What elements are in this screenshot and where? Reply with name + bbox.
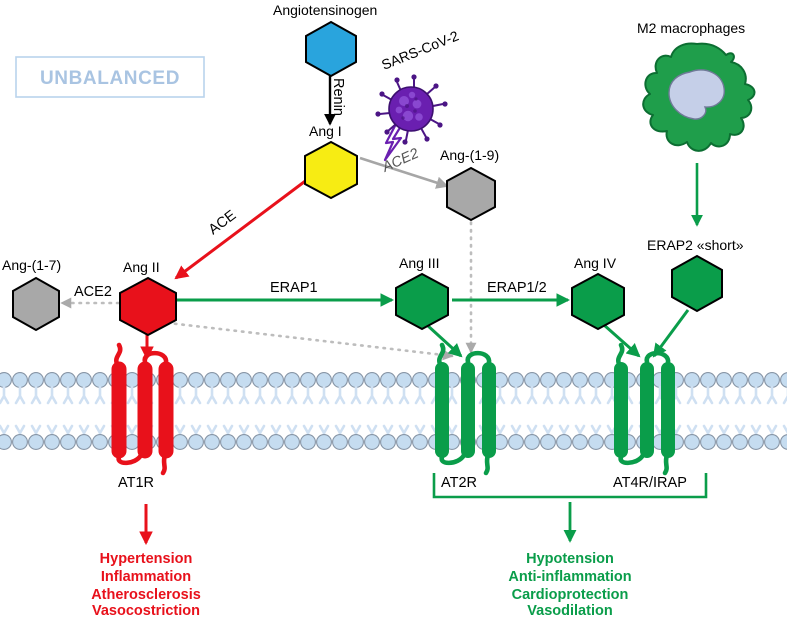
arrow-renin: Renin [330, 72, 346, 124]
receptor-label-at1r: AT1R [118, 475, 154, 491]
outcome-list-left: Hypertension Inflammation Atherosclerosi… [91, 551, 201, 618]
arrow-ang2-to-at2r-dotted [160, 322, 452, 356]
node-label-ang-ii: Ang II [123, 259, 160, 275]
outcome-left-2: Atherosclerosis [91, 587, 201, 603]
receptor-at2r[interactable]: AT2R [435, 345, 496, 491]
arrow-ace: ACE [176, 176, 312, 278]
outcome-left-3: Vasocostriction [92, 603, 200, 618]
outcome-right-2: Cardioprotection [512, 587, 629, 603]
outcome-left-0: Hypertension [100, 551, 193, 567]
receptor-label-at4r-irap: AT4R/IRAP [613, 475, 687, 491]
node-angiotensinogen[interactable]: Angiotensinogen [273, 2, 377, 76]
node-label-sars-cov-2: SARS-CoV-2 [379, 27, 461, 73]
pathway-scene: Renin ACE ACE2 ACE2 ERAP1 ERAP1/2 [0, 0, 787, 618]
receptor-at1r[interactable]: AT1R [112, 345, 173, 491]
node-ang-iii[interactable]: Ang III [396, 255, 448, 329]
arrow-ace2-ang17: ACE2 [62, 284, 126, 303]
node-ang-iv[interactable]: Ang IV [572, 255, 624, 329]
hexagon-ang-iv [572, 274, 624, 329]
node-label-ang-i: Ang I [309, 123, 342, 139]
hexagon-ang-1-9 [447, 168, 495, 220]
node-label-erap2-short: ERAP2 «short» [647, 237, 744, 253]
node-label-angiotensinogen: Angiotensinogen [273, 2, 377, 18]
unbalanced-badge-label: UNBALANCED [40, 68, 180, 89]
outcome-right-3: Vasodilation [527, 603, 612, 618]
receptor-label-at2r: AT2R [441, 475, 477, 491]
enzyme-label-ace2-mid: ACE2 [74, 284, 112, 300]
node-ang-1-9[interactable]: Ang-(1-9) [440, 147, 499, 220]
node-ang-1-7[interactable]: Ang-(1-7) [2, 257, 61, 330]
node-label-m2-macrophages: M2 macrophages [637, 20, 745, 36]
hexagon-erap2-short [672, 256, 722, 311]
hexagon-angiotensinogen [306, 22, 356, 76]
outcome-left-1: Inflammation [101, 569, 191, 585]
pathway-diagram-canvas: Renin ACE ACE2 ACE2 ERAP1 ERAP1/2 [0, 0, 787, 618]
node-label-ang-iii: Ang III [399, 255, 439, 271]
arrow-erap1: ERAP1 [176, 280, 392, 300]
outcome-right-1: Anti-inflammation [508, 569, 631, 585]
node-erap2-short[interactable]: ERAP2 «short» [647, 237, 744, 311]
macrophage-icon [643, 44, 754, 151]
virion-icon [375, 74, 447, 144]
arrow-erap12: ERAP1/2 [452, 280, 568, 300]
enzyme-label-erap12: ERAP1/2 [487, 280, 547, 296]
enzyme-label-erap1: ERAP1 [270, 280, 318, 296]
node-ang-ii[interactable]: Ang II [120, 259, 176, 335]
node-m2-macrophage[interactable]: M2 macrophages [637, 20, 754, 151]
hexagon-ang-ii [120, 278, 176, 335]
hexagon-ang-1-7 [13, 278, 59, 330]
node-sars-cov-2[interactable]: SARS-CoV-2 [375, 27, 461, 144]
outcome-right-0: Hypotension [526, 551, 614, 567]
unbalanced-badge: UNBALANCED [16, 57, 204, 97]
node-ang-i[interactable]: Ang I [305, 123, 357, 198]
arrow-erap2short-to-at4r [654, 310, 688, 356]
arrow-ace2-ang19: ACE2 [360, 146, 447, 186]
node-label-ang-1-9: Ang-(1-9) [440, 147, 499, 163]
outcome-list-right: Hypotension Anti-inflammation Cardioprot… [508, 551, 631, 618]
hexagon-ang-iii [396, 274, 448, 329]
hexagon-ang-i [305, 142, 357, 198]
node-label-ang-iv: Ang IV [574, 255, 617, 271]
receptor-at4r-irap[interactable]: AT4R/IRAP [613, 345, 687, 491]
enzyme-label-renin: Renin [330, 78, 346, 116]
node-label-ang-1-7: Ang-(1-7) [2, 257, 61, 273]
